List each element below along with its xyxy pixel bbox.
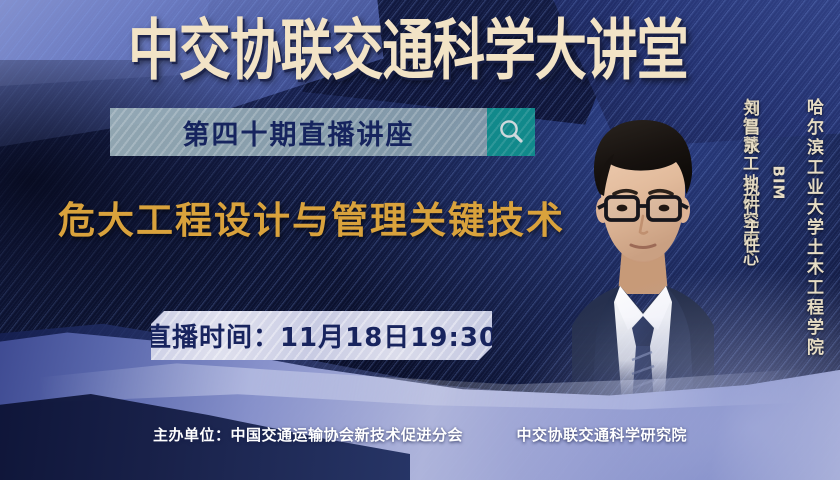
footer-organizer: 主办单位：中国交通运输协会新技术促进分会 (153, 426, 463, 444)
footer: 主办单位：中国交通运输协会新技术促进分会 中交协联交通科学研究院 (0, 424, 840, 445)
footer-co-organizer: 中交协联交通科学研究院 (516, 426, 687, 444)
episode-banner: 第四十期直播讲座 (110, 108, 535, 156)
speaker-affiliation-center-latin: BIM (770, 165, 788, 200)
livestream-poster: 中交协联交通科学大讲堂 第四十期直播讲座 危大工程设计与管理关键技术 直播时间：… (0, 0, 840, 480)
background-glow (500, 260, 840, 480)
speaker-role: 执行主任 (738, 180, 762, 256)
speaker-affiliation-school: 哈尔滨工业大学土木工程学院 (801, 98, 826, 358)
schedule-label: 直播时间：11月18日19:30 (151, 317, 492, 354)
lecture-title: 危大工程设计与管理关键技术 (58, 190, 565, 244)
search-button[interactable] (487, 108, 535, 156)
episode-label: 第四十期直播讲座 (183, 113, 415, 152)
search-icon (496, 117, 526, 147)
schedule-banner: 直播时间：11月18日19:30 (151, 311, 492, 360)
episode-banner-bar: 第四十期直播讲座 (110, 108, 487, 156)
speaker-name: 刘昌永 (738, 100, 762, 157)
page-title: 中交协联交通科学大讲堂 (128, 18, 688, 84)
